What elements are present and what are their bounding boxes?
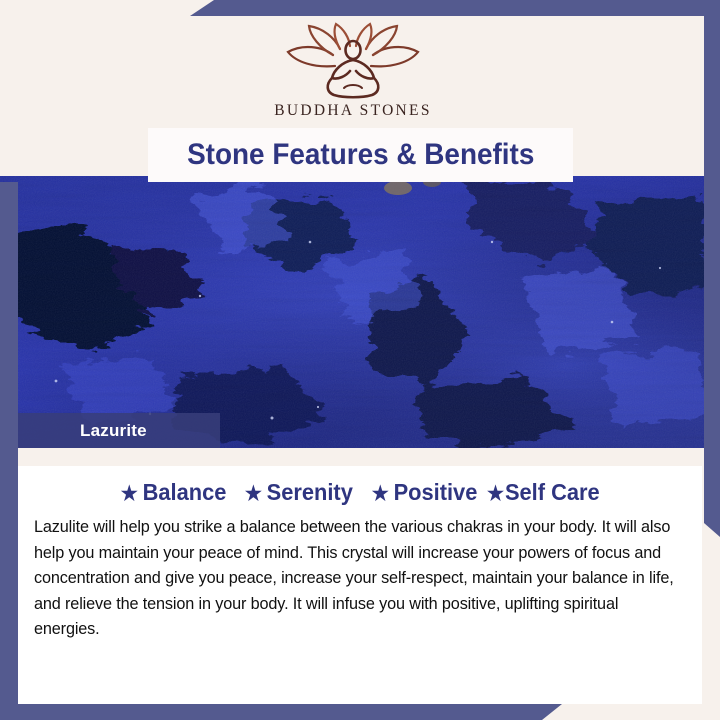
- frame-bottom-accent: [0, 704, 562, 720]
- benefit-positive-label: Positive: [393, 479, 477, 506]
- benefit-self-care-label: Self Care: [505, 479, 600, 506]
- frame-left-accent: [0, 182, 18, 720]
- panel-top-strip: [18, 448, 706, 466]
- benefit-self-care: ★ Self Care: [487, 479, 600, 506]
- benefit-balance-label: Balance: [142, 479, 226, 506]
- benefit-serenity: ★ Serenity: [245, 479, 353, 506]
- frame-right-accent: [704, 0, 720, 537]
- title-banner: Stone Features & Benefits: [148, 128, 573, 182]
- benefit-positive: ★ Positive: [371, 479, 477, 506]
- benefit-serenity-label: Serenity: [266, 479, 352, 506]
- description-text: Lazulite will help you strike a balance …: [34, 515, 676, 643]
- stone-name-text: Lazurite: [18, 421, 147, 441]
- stone-features-poster: BUDDHA STONES Stone Features & Benefits: [0, 0, 720, 720]
- stone-photo: Lazurite: [0, 176, 706, 448]
- stone-name-label: Lazurite: [18, 413, 220, 448]
- frame-top-accent: [190, 0, 720, 16]
- brand-name: BUDDHA STONES: [274, 102, 432, 120]
- star-icon: ★: [120, 484, 137, 504]
- star-icon: ★: [371, 484, 388, 504]
- brand-logo: BUDDHA STONES: [0, 22, 706, 120]
- star-icon: ★: [245, 484, 262, 504]
- lotus-meditation-icon: [278, 22, 428, 100]
- star-icon: ★: [487, 484, 504, 504]
- page-title: Stone Features & Benefits: [187, 138, 534, 172]
- lazurite-texture: [0, 176, 706, 448]
- benefits-keyword-row: ★ Balance ★ Serenity ★ Positive ★ Self C…: [18, 466, 702, 506]
- benefit-balance: ★ Balance: [120, 479, 226, 506]
- content-panel: ★ Balance ★ Serenity ★ Positive ★ Self C…: [18, 466, 702, 704]
